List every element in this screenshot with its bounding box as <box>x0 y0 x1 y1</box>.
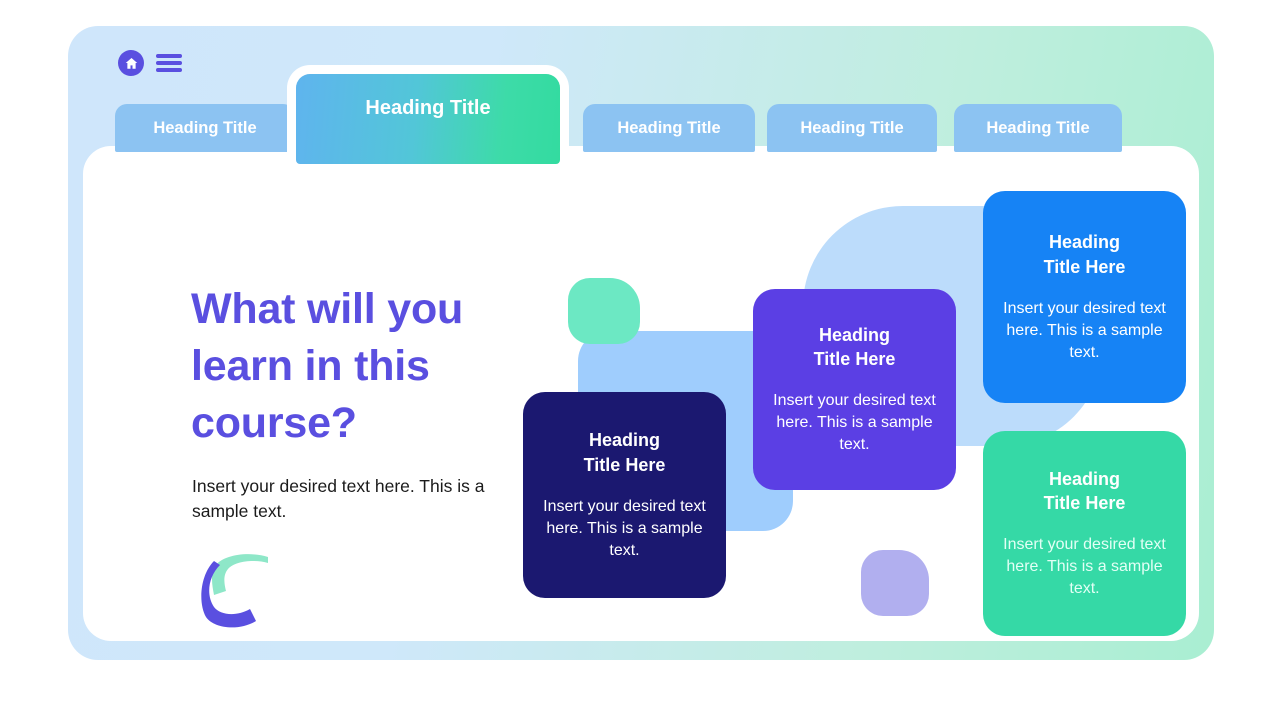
card-title: Heading Title Here <box>1044 230 1126 280</box>
tab-heading-title-1[interactable]: Heading Title <box>115 104 295 152</box>
tab-label: Heading Title <box>153 119 256 138</box>
slide-frame: Heading Title Heading Title Heading Titl… <box>68 26 1214 660</box>
card-title: Heading Title Here <box>814 323 896 373</box>
tab-strip: Heading Title Heading Title Heading Titl… <box>68 26 1214 186</box>
card-green[interactable]: Heading Title Here Insert your desired t… <box>983 431 1186 636</box>
card-title: Heading Title Here <box>584 428 666 478</box>
top-toolbar <box>118 50 182 76</box>
tab-heading-title-5[interactable]: Heading Title <box>954 104 1122 152</box>
tab-heading-title-3[interactable]: Heading Title <box>583 104 755 152</box>
decorative-square-mint <box>568 278 640 344</box>
card-navy[interactable]: Heading Title Here Insert your desired t… <box>523 392 726 598</box>
page-title: What will you learn in this course? <box>191 281 531 453</box>
content-panel: What will you learn in this course? Inse… <box>83 146 1199 641</box>
card-blue[interactable]: Heading Title Here Insert your desired t… <box>983 191 1186 403</box>
menu-bar-1 <box>156 54 182 58</box>
page-subtext: Insert your desired text here. This is a… <box>192 474 492 524</box>
tab-heading-title-4[interactable]: Heading Title <box>767 104 937 152</box>
card-body: Insert your desired text here. This is a… <box>1001 534 1168 600</box>
tab-label: Heading Title <box>800 119 903 138</box>
tab-label: Heading Title <box>365 97 490 120</box>
hamburger-menu-icon[interactable] <box>156 53 182 73</box>
menu-bar-2 <box>156 61 182 65</box>
decorative-square-lilac <box>861 550 929 616</box>
card-body: Insert your desired text here. This is a… <box>541 496 708 562</box>
card-body: Insert your desired text here. This is a… <box>1001 298 1168 364</box>
tab-heading-title-2-active[interactable]: Heading Title <box>296 74 560 164</box>
card-body: Insert your desired text here. This is a… <box>771 390 938 456</box>
card-title: Heading Title Here <box>1044 467 1126 517</box>
home-icon[interactable] <box>118 50 144 76</box>
card-purple[interactable]: Heading Title Here Insert your desired t… <box>753 289 956 490</box>
tab-label: Heading Title <box>986 119 1089 138</box>
tab-label: Heading Title <box>617 119 720 138</box>
menu-bar-3 <box>156 68 182 72</box>
logo-mark-icon <box>190 551 278 633</box>
